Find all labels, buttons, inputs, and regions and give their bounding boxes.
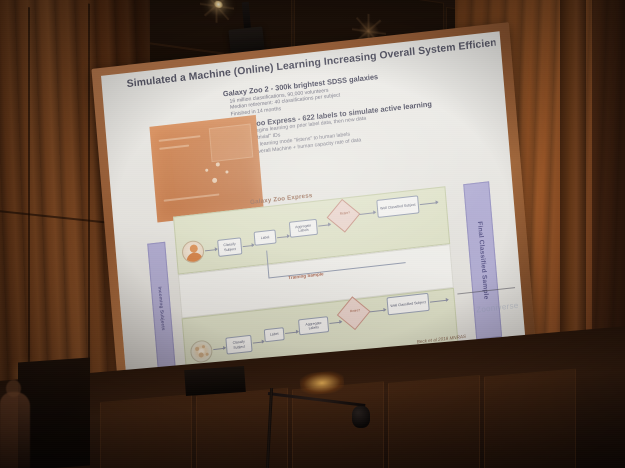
stage-speaker — [184, 366, 246, 396]
thumbnail-star-icon — [225, 170, 228, 173]
incoming-subjects-label: Incoming Subjects — [157, 286, 166, 331]
final-classified-sample-bar: Final Classified Sample — [463, 181, 502, 339]
thumbnail-star-icon — [212, 178, 217, 184]
node-aggregate-labels: Aggregate Labels — [298, 316, 329, 335]
node-aggregate-labels: Aggregate Labels — [289, 219, 318, 238]
node-classify-subject: Classify Subject — [225, 335, 252, 355]
incoming-subjects-bar: Incoming Subjects — [147, 242, 176, 376]
machine-dot-icon — [202, 345, 205, 348]
node-label: Label — [254, 229, 277, 245]
thumbnail-line — [159, 135, 201, 142]
thumbnail-star-icon — [216, 162, 220, 166]
retire-decision-label: Retire? — [344, 308, 366, 314]
wall-panel — [484, 368, 576, 468]
screen-surface: Simulated a Machine (Online) Learning In… — [101, 31, 526, 388]
thumbnail-panel — [209, 124, 254, 163]
conference-room-photo: Simulated a Machine (Online) Learning In… — [0, 0, 625, 468]
audience-silhouette — [0, 392, 30, 468]
thumbnail-line — [159, 145, 189, 150]
machine-dot-icon — [206, 353, 209, 356]
machine-dot-icon — [199, 352, 204, 358]
stage-warm-light — [299, 370, 345, 396]
retire-decision-label: Retire? — [334, 211, 356, 217]
wall-panel — [388, 375, 480, 468]
thumbnail-line — [164, 193, 220, 201]
presentation-slide: Simulated a Machine (Online) Learning In… — [101, 31, 526, 388]
final-classified-sample-label: Final Classified Sample — [476, 221, 490, 300]
silhouette-head — [6, 380, 21, 397]
microphone-head-icon — [352, 406, 370, 428]
volunteer-icon — [181, 240, 205, 264]
wall-panel — [100, 394, 192, 468]
machine-dot-icon — [195, 347, 199, 351]
node-classify-subject: Classify Subject — [217, 237, 242, 257]
node-label: Label — [264, 327, 285, 342]
thumbnail-star-icon — [205, 169, 208, 172]
wall-panel — [196, 388, 288, 468]
